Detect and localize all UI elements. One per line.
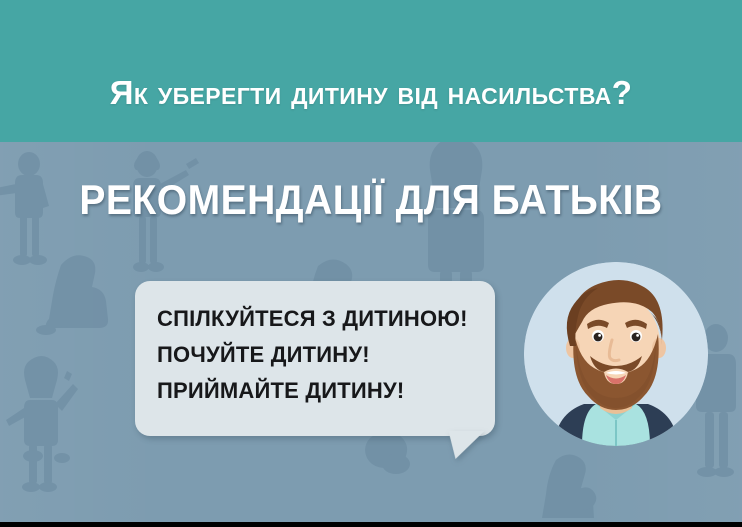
speech-bubble-text: СПІЛКУЙТЕСЯ З ДИТИНОЮ! ПОЧУЙТЕ ДИТИНУ! П… [157, 301, 481, 409]
section-heading: РЕКОМЕНДАЦІЇ ДЛЯ БАТЬКІВ [26, 176, 716, 224]
banner-title: Як уберегти дитину від насильства? [0, 74, 742, 112]
avatar [524, 262, 708, 446]
speech-bubble-line-2: ПОЧУЙТЕ ДИТИНУ! [157, 337, 481, 373]
header-banner: Як уберегти дитину від насильства? [0, 0, 742, 142]
speech-bubble: СПІЛКУЙТЕСЯ З ДИТИНОЮ! ПОЧУЙТЕ ДИТИНУ! П… [135, 281, 495, 456]
poster-root: Як уберегти дитину від насильства? РЕКОМ… [0, 0, 742, 527]
speech-bubble-tail [446, 431, 485, 459]
bottom-bar [0, 522, 742, 527]
speech-bubble-line-1: СПІЛКУЙТЕСЯ З ДИТИНОЮ! [157, 301, 481, 337]
speech-bubble-body: СПІЛКУЙТЕСЯ З ДИТИНОЮ! ПОЧУЙТЕ ДИТИНУ! П… [135, 281, 495, 436]
speech-bubble-line-3: ПРИЙМАЙТЕ ДИТИНУ! [157, 373, 481, 409]
